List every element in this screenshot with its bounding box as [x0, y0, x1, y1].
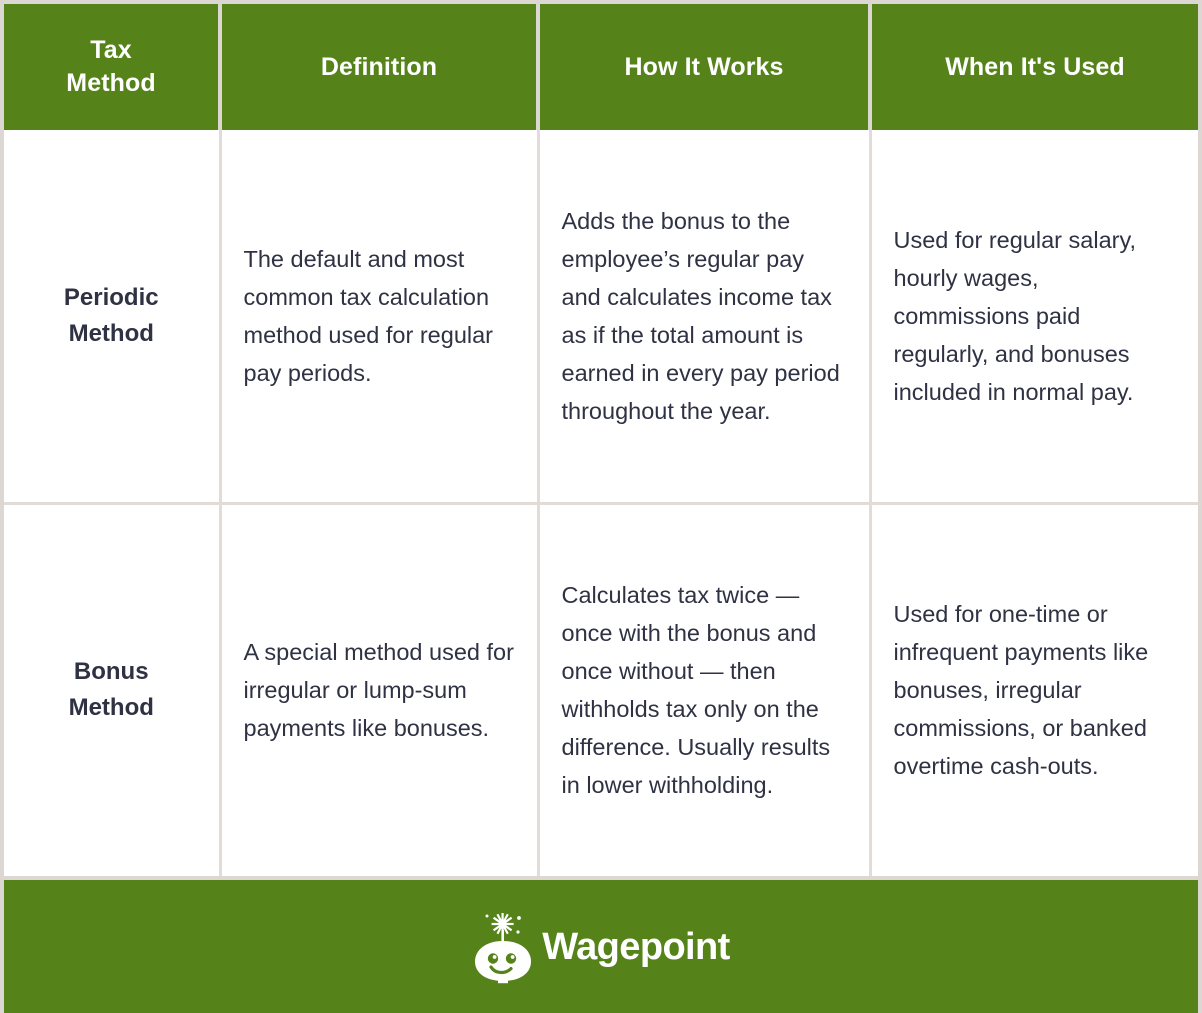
cell-how-it-works-periodic: Adds the bonus to the employee’s regular…	[538, 130, 870, 503]
header-row: Tax Method Definition How It Works When …	[4, 4, 1198, 130]
brand-footer: Wagepoint	[4, 880, 1198, 1013]
when-used-text: Used for one-time or infrequent payments…	[894, 595, 1177, 785]
column-header-definition: Definition	[220, 4, 538, 130]
wagepoint-wordmark: Wagepoint	[542, 928, 729, 966]
definition-text: The default and most common tax calculat…	[244, 240, 515, 392]
column-header-when-its-used: When It's Used	[870, 4, 1198, 130]
definition-text: A special method used for irregular or l…	[244, 633, 515, 747]
table-container: Tax Method Definition How It Works When …	[0, 0, 1202, 876]
method-name-label: Periodic Method	[14, 280, 209, 352]
wagepoint-logo: Wagepoint	[472, 910, 729, 984]
wagepoint-mascot-icon	[472, 910, 534, 984]
column-header-definition-label: Definition	[232, 51, 526, 84]
table-row: Bonus Method A special method used for i…	[4, 503, 1198, 876]
column-header-how-it-works: How It Works	[538, 4, 870, 130]
how-it-works-text: Adds the bonus to the employee’s regular…	[562, 202, 847, 430]
cell-definition-periodic: The default and most common tax calculat…	[220, 130, 538, 503]
tax-method-comparison-infographic: Tax Method Definition How It Works When …	[0, 0, 1202, 1013]
cell-when-used-periodic: Used for regular salary, hourly wages, c…	[870, 130, 1198, 503]
cell-method-periodic: Periodic Method	[4, 130, 220, 503]
cell-definition-bonus: A special method used for irregular or l…	[220, 503, 538, 876]
how-it-works-text: Calculates tax twice — once with the bon…	[562, 576, 847, 804]
cell-when-used-bonus: Used for one-time or infrequent payments…	[870, 503, 1198, 876]
table-row: Periodic Method The default and most com…	[4, 130, 1198, 503]
tax-method-table: Tax Method Definition How It Works When …	[4, 4, 1198, 876]
column-header-how-it-works-label: How It Works	[550, 51, 858, 84]
when-used-text: Used for regular salary, hourly wages, c…	[894, 221, 1177, 411]
column-header-when-its-used-label: When It's Used	[882, 51, 1188, 84]
method-name-label: Bonus Method	[14, 654, 209, 726]
column-header-tax-method: Tax Method	[4, 4, 220, 130]
cell-method-bonus: Bonus Method	[4, 503, 220, 876]
table-body: Periodic Method The default and most com…	[4, 130, 1198, 876]
table-header: Tax Method Definition How It Works When …	[4, 4, 1198, 130]
cell-how-it-works-bonus: Calculates tax twice — once with the bon…	[538, 503, 870, 876]
column-header-tax-method-label: Tax Method	[14, 34, 208, 100]
